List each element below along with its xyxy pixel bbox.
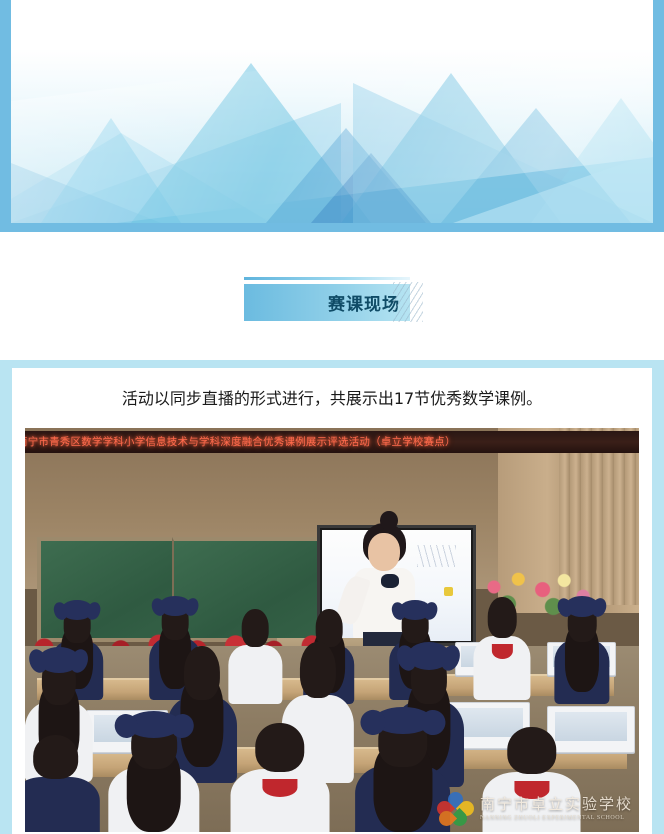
screen-scribble [417, 545, 456, 567]
student-figure [25, 735, 93, 832]
content-panel-inner: 活动以同步直播的形式进行，共展示出17节优秀数学课例。 南宁市青秀区数学学科小学… [12, 368, 652, 834]
school-watermark: 南宁市卓立实验学校 NANNING ZHUOLI EXPERIMENTAL SC… [435, 792, 633, 826]
student-hair-bow [127, 711, 182, 738]
hero-banner-artwork [11, 0, 653, 223]
section-title-rule [244, 277, 410, 280]
school-name-english: NANNING ZHUOLI EXPERIMENTAL SCHOOL [480, 815, 633, 821]
student-red-scarf [492, 644, 512, 660]
student-hair-bow [38, 647, 79, 674]
student-hair-bow [160, 596, 192, 616]
school-watermark-text: 南宁市卓立实验学校 NANNING ZHUOLI EXPERIMENTAL SC… [480, 797, 633, 821]
teacher-hair-bun [380, 511, 398, 530]
student-hair-bow [565, 596, 599, 617]
content-panel: 活动以同步直播的形式进行，共展示出17节优秀数学课例。 南宁市青秀区数学学科小学… [0, 360, 664, 834]
student-figure [559, 601, 605, 698]
diagonal-stripes-decoration [393, 282, 423, 322]
student-figure [234, 609, 277, 698]
student-hair-bow [407, 642, 450, 670]
student-figure [240, 723, 320, 832]
student-head [507, 727, 556, 775]
student-hair-bow [399, 600, 431, 620]
teacher-ribbon [381, 574, 399, 589]
decorative-polygon [453, 153, 653, 223]
student-head [183, 646, 219, 700]
section-title-text: 赛课现场 [328, 290, 400, 315]
student-figure [363, 714, 443, 831]
student-head [255, 723, 304, 772]
section-title-badge: 赛课现场 [244, 284, 410, 321]
student-uniform [25, 777, 100, 832]
section-title-area: 赛课现场 [0, 232, 664, 360]
school-name-chinese: 南宁市卓立实验学校 [480, 797, 633, 812]
student-head [33, 735, 79, 779]
student-hair-bow [61, 600, 93, 620]
hero-banner [0, 0, 664, 232]
led-banner-text: 南宁市青秀区数学学科小学信息技术与学科深度融合优秀课例展示评选活动（卓立学校赛点… [25, 434, 456, 449]
student-figure [117, 718, 191, 831]
student-hair-bow [373, 707, 432, 735]
student-head [300, 642, 336, 698]
student-figure [479, 597, 525, 694]
student-head [488, 597, 517, 638]
student-uniform [229, 645, 282, 704]
screen-yellow-marker [444, 587, 453, 596]
body-paragraph: 活动以同步直播的形式进行，共展示出17节优秀数学课例。 [25, 386, 639, 412]
student-red-scarf [262, 779, 297, 798]
classroom-photo: 南宁市青秀区数学学科小学信息技术与学科深度融合优秀课例展示评选活动（卓立学校赛点… [25, 428, 639, 832]
school-logo-icon [435, 792, 475, 826]
teacher-head [368, 533, 400, 572]
led-banner: 南宁市青秀区数学学科小学信息技术与学科深度融合优秀课例展示评选活动（卓立学校赛点… [25, 431, 639, 453]
student-head [242, 609, 269, 646]
